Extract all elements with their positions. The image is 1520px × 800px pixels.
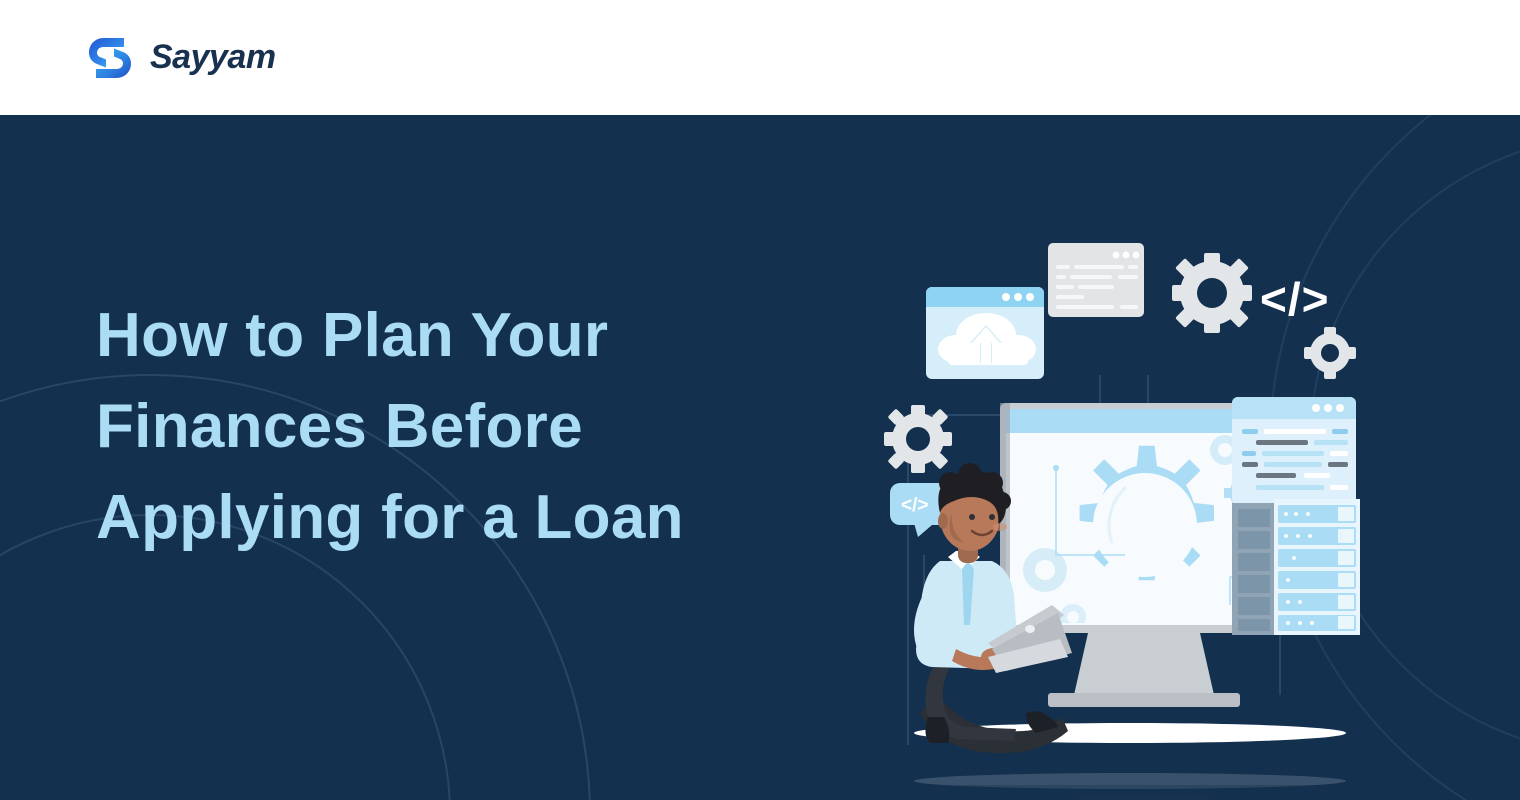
brand-logo[interactable]: Sayyam xyxy=(84,32,276,84)
hero-section: How to Plan Your Finances Before Applyin… xyxy=(0,115,1520,800)
hero-copy: How to Plan Your Finances Before Applyin… xyxy=(96,290,796,563)
page-title: How to Plan Your Finances Before Applyin… xyxy=(96,290,796,563)
svg-text:</>: </> xyxy=(1260,273,1330,325)
reflection-fade xyxy=(860,785,1400,800)
code-list-window xyxy=(1232,397,1356,505)
central-gear xyxy=(1080,446,1214,580)
sayyam-s-logo-icon xyxy=(84,32,136,84)
developer-workstation-illustration: </> xyxy=(860,225,1400,800)
gear-top-right-outer xyxy=(1172,253,1252,333)
landing-page-hero: Sayyam How to Plan Your Finances Before … xyxy=(0,0,1520,800)
server-rack xyxy=(1232,499,1360,635)
code-tag-icon: </> xyxy=(1260,273,1330,325)
gear-left-outer xyxy=(884,405,952,473)
cloud-upload-window xyxy=(926,287,1044,379)
brand-name-text: Sayyam xyxy=(150,38,276,77)
svg-text:</>: </> xyxy=(901,495,928,516)
gear-right-outer xyxy=(1304,327,1356,379)
document-window xyxy=(1048,243,1144,317)
site-header: Sayyam xyxy=(0,0,1520,115)
